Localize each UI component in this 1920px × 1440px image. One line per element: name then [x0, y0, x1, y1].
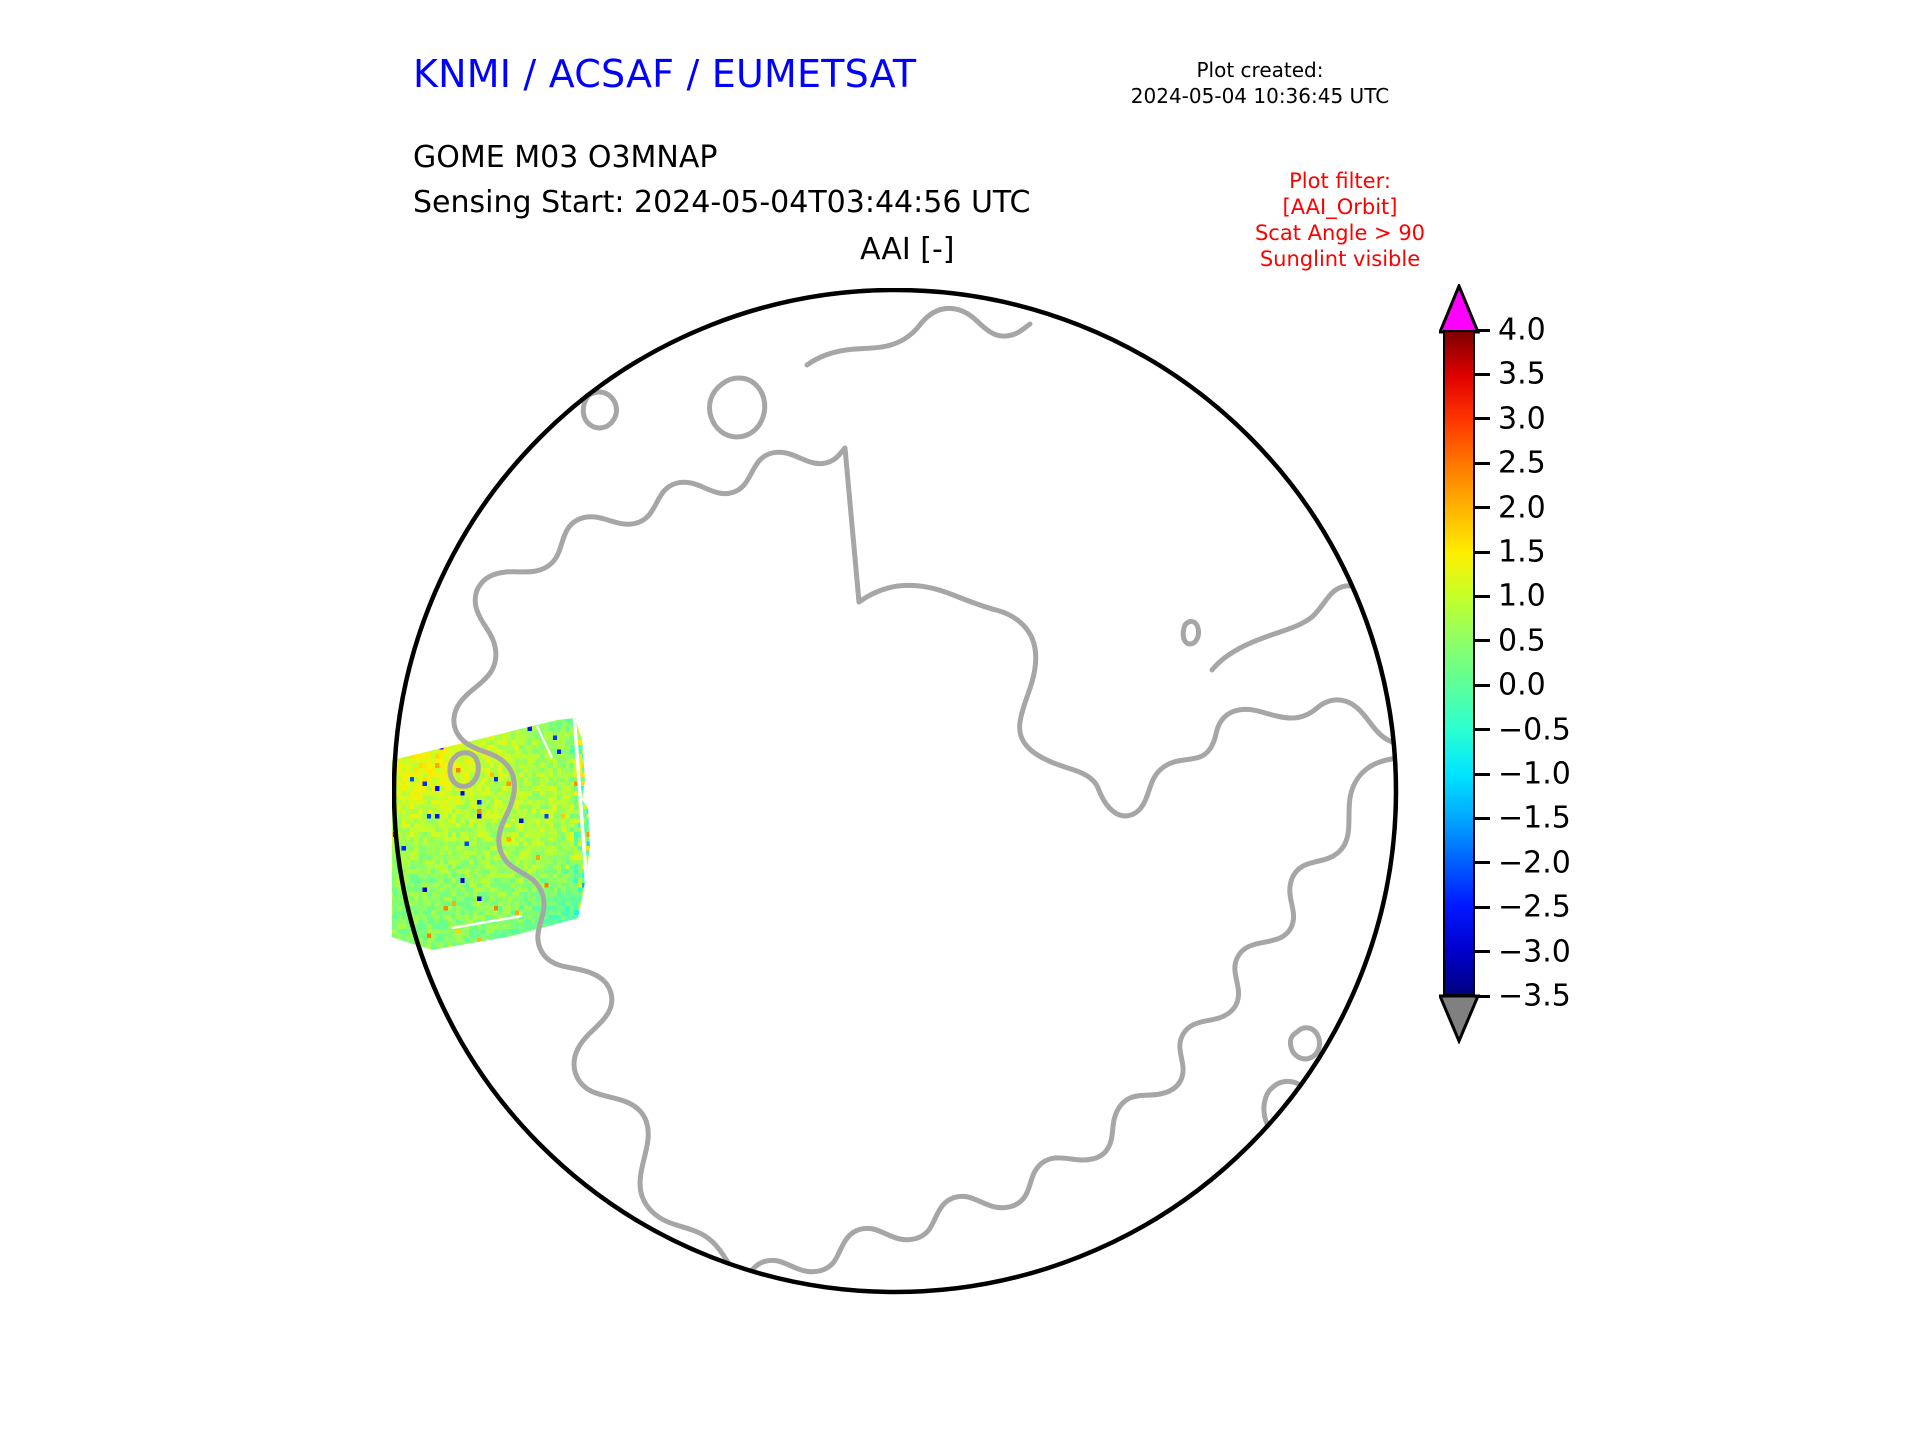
colorbar-tick — [1475, 329, 1490, 332]
colorbar-tick — [1475, 861, 1490, 864]
colorbar-tick — [1475, 906, 1490, 909]
antarctica-coastline — [454, 448, 1396, 1276]
colorbar-tick — [1475, 950, 1490, 953]
colorbar: 4.03.53.02.52.01.51.00.50.0−0.5−1.0−1.5−… — [1440, 282, 1680, 1072]
new-zealand-coastline — [807, 308, 1030, 365]
southern-islet-far-left — [497, 404, 528, 437]
berkner-island — [1290, 1028, 1319, 1059]
colorbar-tick-label: 1.5 — [1498, 535, 1546, 570]
colorbar-tick-label: −0.5 — [1498, 712, 1571, 747]
colorbar-tick-label: −3.5 — [1498, 979, 1571, 1014]
colorbar-over-range-arrow — [1441, 286, 1477, 330]
plot-filter-title: Plot filter: — [1180, 168, 1500, 194]
colorbar-tick — [1475, 373, 1490, 376]
south-shetland-islands — [1183, 621, 1198, 644]
coastlines — [454, 308, 1402, 1298]
colorbar-tick-label: −1.0 — [1498, 757, 1571, 792]
page-title-organisation: KNMI / ACSAF / EUMETSAT — [413, 52, 916, 96]
colorbar-tick — [1475, 506, 1490, 509]
colorbar-tick-label: 3.5 — [1498, 357, 1546, 392]
plot-filter-line-2: Scat Angle > 90 — [1180, 220, 1500, 246]
plot-created-block: Plot created: 2024-05-04 10:36:45 UTC — [1100, 57, 1420, 109]
data-swath — [392, 708, 600, 961]
colorbar-tick — [1475, 728, 1490, 731]
plot-created-timestamp: 2024-05-04 10:36:45 UTC — [1100, 83, 1420, 109]
colorbar-tick-label: 4.0 — [1498, 313, 1546, 348]
colorbar-gradient — [1443, 330, 1475, 996]
colorbar-tick-label: −1.5 — [1498, 801, 1571, 836]
colorbar-tick-label: 2.5 — [1498, 446, 1546, 481]
colorbar-tick-label: 0.0 — [1498, 668, 1546, 703]
colorbar-under-range-arrow — [1441, 996, 1477, 1040]
colorbar-tick-label: 1.0 — [1498, 579, 1546, 614]
colorbar-tick — [1475, 417, 1490, 420]
plot-filter-line-3: Sunglint visible — [1180, 246, 1500, 272]
colorbar-tick — [1475, 773, 1490, 776]
alexander-island — [1264, 1081, 1317, 1142]
colorbar-tick — [1475, 639, 1490, 642]
colorbar-tick — [1475, 684, 1490, 687]
colorbar-tick-label: 3.0 — [1498, 401, 1546, 436]
colorbar-tick-label: 0.5 — [1498, 623, 1546, 658]
colorbar-tick — [1475, 551, 1490, 554]
colorbar-tick — [1475, 817, 1490, 820]
instrument-label: GOME M03 O3MNAP — [413, 140, 717, 175]
plot-filter-line-1: [AAI_Orbit] — [1180, 194, 1500, 220]
quantity-title: AAI [-] — [860, 232, 955, 267]
polar-stereographic-map — [392, 288, 1402, 1298]
colorbar-tick — [1475, 595, 1490, 598]
colorbar-tick-label: −2.5 — [1498, 890, 1571, 925]
colorbar-tick-label: 2.0 — [1498, 490, 1546, 525]
colorbar-tick-label: −2.0 — [1498, 845, 1571, 880]
plot-created-label: Plot created: — [1100, 57, 1420, 83]
sensing-start-label: Sensing Start: 2024-05-04T03:44:56 UTC — [413, 185, 1030, 220]
stewart-island — [709, 378, 764, 437]
colorbar-tick — [1475, 995, 1490, 998]
plot-filter-block: Plot filter: [AAI_Orbit] Scat Angle > 90… — [1180, 168, 1500, 272]
colorbar-tick-label: −3.0 — [1498, 934, 1571, 969]
colorbar-tick — [1475, 462, 1490, 465]
